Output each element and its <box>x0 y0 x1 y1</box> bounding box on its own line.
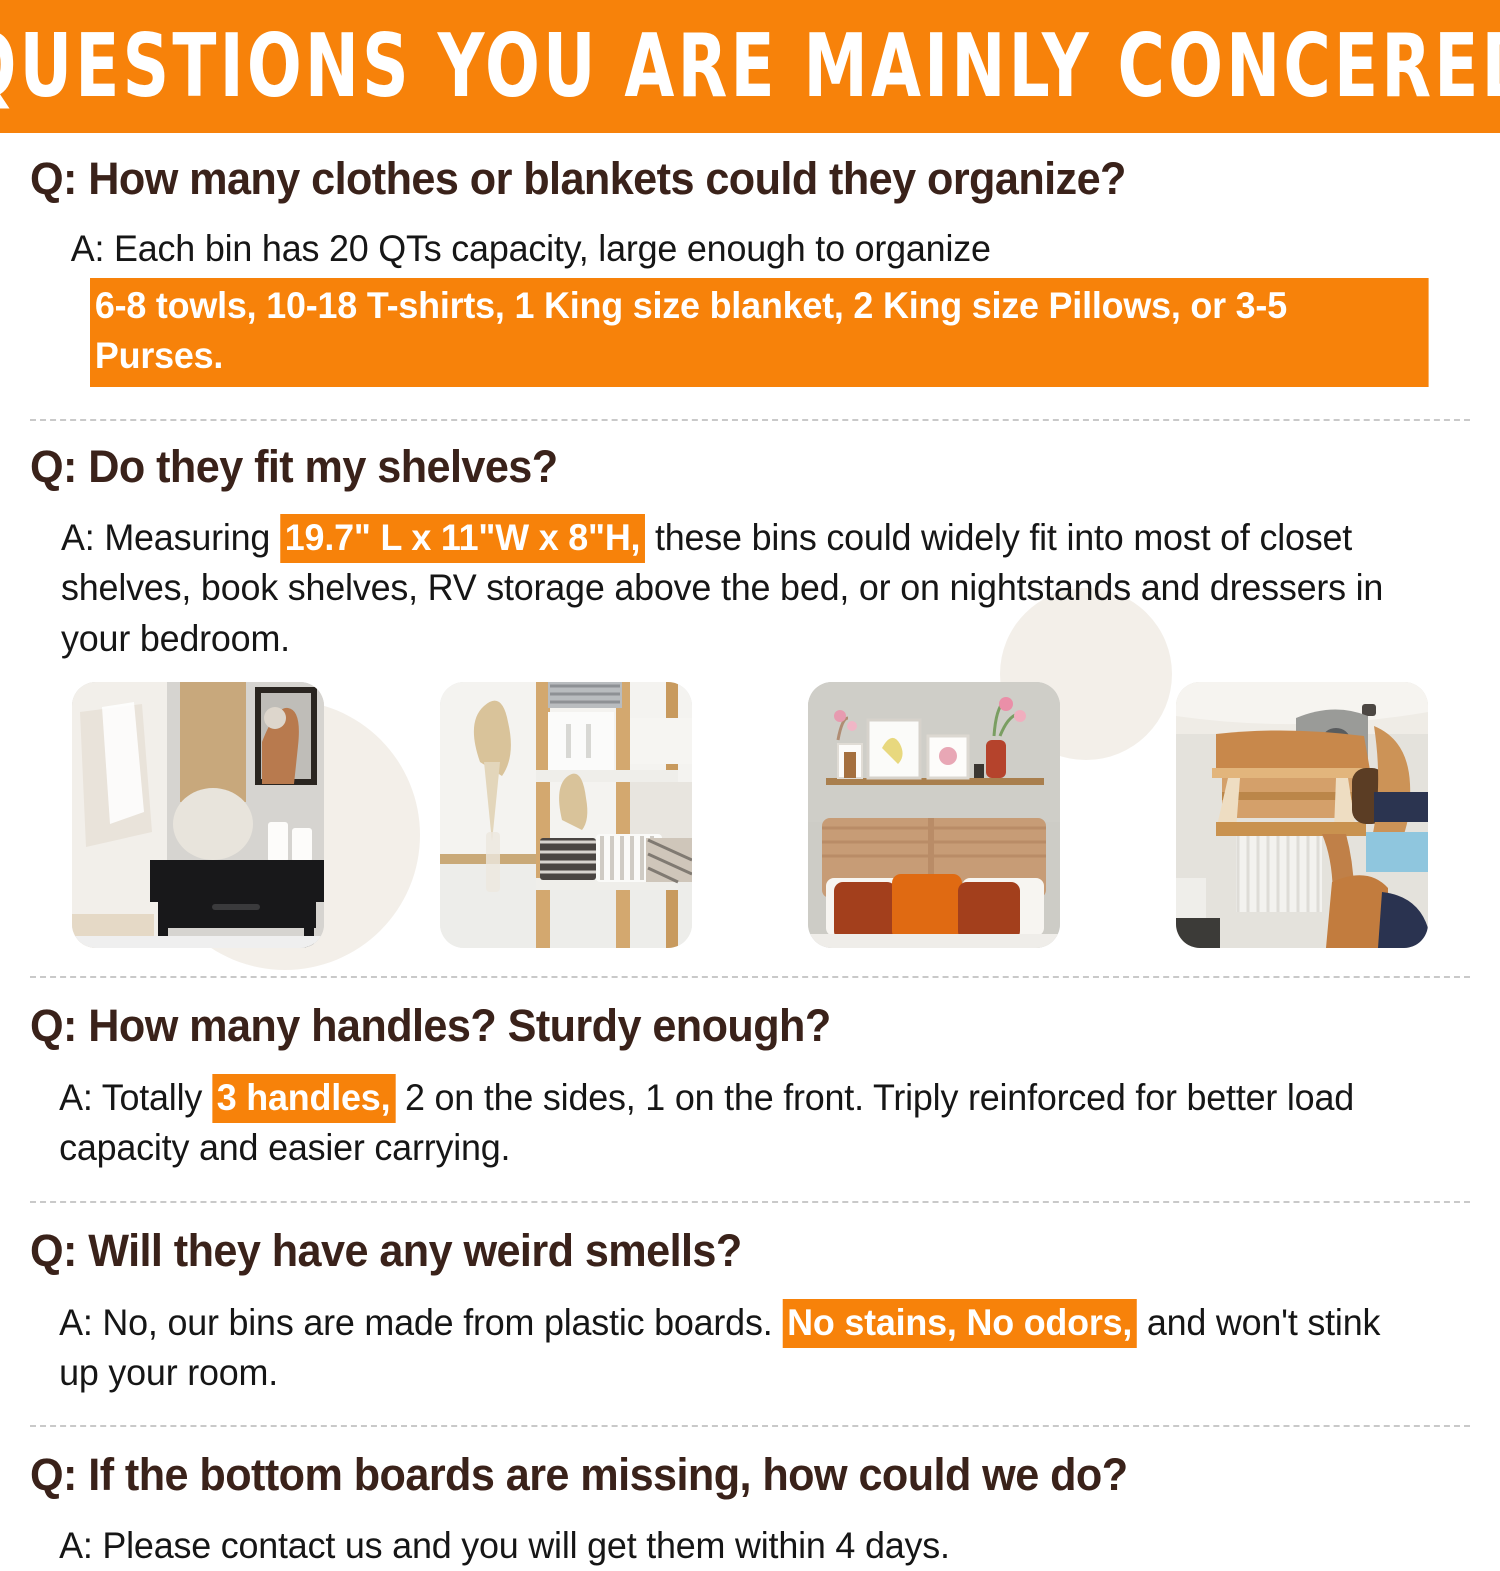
page-title: QUESTIONS YOU ARE MAINLY CONCERED <box>0 23 1500 110</box>
photo-nightstand <box>72 682 324 948</box>
photo-bookshelf <box>440 682 692 948</box>
section-divider-4 <box>30 1425 1470 1427</box>
faq-item-handles: Q: How many handles? Sturdy enough? A: T… <box>0 978 1500 1173</box>
faq-question-capacity: Q: How many clothes or blankets could th… <box>30 155 1412 204</box>
faq-question-bottom-boards: Q: If the bottom boards are missing, how… <box>30 1451 1412 1500</box>
faq-question-handles: Q: How many handles? Sturdy enough? <box>30 1002 1412 1051</box>
faq-content: Q: How many clothes or blankets could th… <box>0 133 1500 1571</box>
faq-highlight-dimensions: 19.7" L x 11"W x 8"H, <box>280 514 645 563</box>
faq-item-smells: Q: Will they have any weird smells? A: N… <box>0 1203 1500 1398</box>
faq-answer-shelves-prefix: A: Measuring <box>61 517 280 558</box>
section-divider-2 <box>30 976 1470 978</box>
faq-item-capacity: Q: How many clothes or blankets could th… <box>0 133 1500 387</box>
faq-highlight-capacity: 6-8 towls, 10-18 T-shirts, 1 King size b… <box>90 278 1429 387</box>
photo-gallery <box>30 682 1470 948</box>
faq-highlight-no-odors: No stains, No odors, <box>782 1299 1137 1348</box>
faq-answer-handles: A: Totally 3 handles, 2 on the sides, 1 … <box>30 1073 1427 1174</box>
header-banner: QUESTIONS YOU ARE MAINLY CONCERED <box>0 0 1500 133</box>
faq-item-shelves: Q: Do they fit my shelves? A: Measuring … <box>0 421 1500 949</box>
faq-highlight-handles: 3 handles, <box>212 1074 395 1123</box>
faq-answer-capacity-line1: A: Each bin has 20 QTs capacity, large e… <box>30 224 1427 274</box>
section-divider-1 <box>30 419 1470 421</box>
faq-question-shelves: Q: Do they fit my shelves? <box>30 443 1412 492</box>
faq-answer-handles-prefix: A: Totally <box>59 1077 212 1118</box>
photo-bedroom-shelf <box>808 682 1060 948</box>
faq-question-smells: Q: Will they have any weird smells? <box>30 1227 1412 1276</box>
faq-answer-bottom-boards: A: Please contact us and you will get th… <box>30 1521 1427 1571</box>
faq-answer-smells-prefix: A: No, our bins are made from plastic bo… <box>59 1302 782 1343</box>
photo-rv-storage <box>1176 682 1428 948</box>
faq-item-bottom-boards: Q: If the bottom boards are missing, how… <box>0 1427 1500 1571</box>
faq-answer-smells: A: No, our bins are made from plastic bo… <box>30 1298 1427 1399</box>
faq-answer-shelves: A: Measuring 19.7" L x 11"W x 8"H, these… <box>30 513 1427 664</box>
section-divider-3 <box>30 1201 1470 1203</box>
